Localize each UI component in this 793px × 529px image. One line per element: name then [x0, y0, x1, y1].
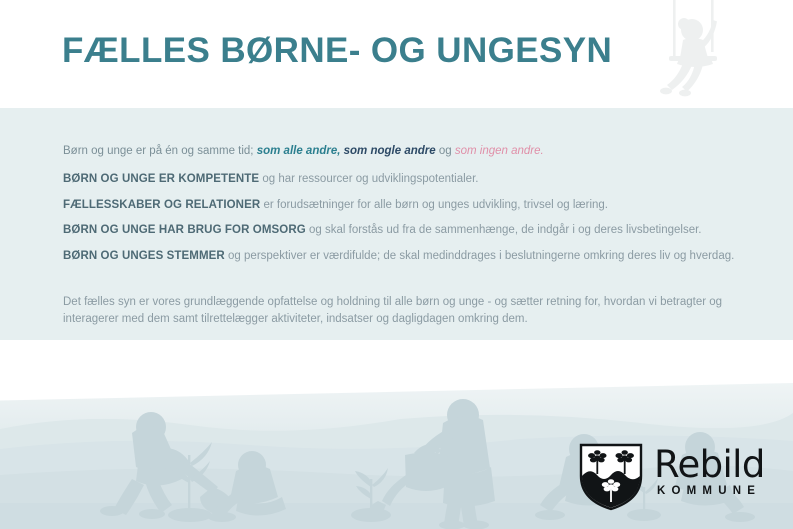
header-band: FÆLLES BØRNE- OG UNGESYN: [0, 0, 793, 108]
rebild-coat-of-arms-shield-icon: [578, 443, 644, 511]
rebild-kommune-logo: Rebild KOMMUNE: [578, 441, 778, 513]
intro-line: Børn og unge er på én og samme tid; som …: [63, 144, 544, 159]
intro-conjunction: og: [436, 145, 455, 157]
statement-item: BØRN OG UNGE ER KOMPETENTE og har ressou…: [63, 172, 783, 187]
statement-heading: BØRN OG UNGE ER KOMPETENTE: [63, 173, 259, 185]
statement-text: og perspektiver er værdifulde; de skal m…: [225, 250, 734, 262]
intro-lead: Børn og unge er på én og samme tid;: [63, 145, 257, 157]
statement-heading: BØRN OG UNGE HAR BRUG FOR OMSORG: [63, 224, 306, 236]
logo-wordmark: Rebild: [654, 444, 765, 486]
statement-text: er forudsætninger for alle børn og unges…: [260, 199, 608, 211]
statement-text: og skal forstås ud fra de sammenhænge, d…: [306, 224, 702, 236]
statement-list: BØRN OG UNGE ER KOMPETENTE og har ressou…: [63, 172, 783, 274]
child-on-swing-icon: [635, 0, 755, 108]
poster-page: FÆLLES BØRNE- OG UNGESYN: [0, 0, 793, 529]
statement-item: FÆLLESSKABER OG RELATIONER er forudsætni…: [63, 198, 783, 213]
statement-text: og har ressourcer og udviklingspotential…: [259, 173, 478, 185]
statement-heading: FÆLLESSKABER OG RELATIONER: [63, 199, 260, 211]
statement-item: BØRN OG UNGES STEMMER og perspektiver er…: [63, 249, 783, 264]
intro-emphasis-alle: som alle andre,: [257, 145, 341, 157]
intro-emphasis-ingen: som ingen andre.: [455, 145, 544, 157]
statement-item: BØRN OG UNGE HAR BRUG FOR OMSORG og skal…: [63, 223, 783, 238]
page-title: FÆLLES BØRNE- OG UNGESYN: [62, 28, 612, 74]
intro-emphasis-nogle: som nogle andre: [340, 145, 435, 157]
logo-subtitle: KOMMUNE: [657, 484, 761, 498]
closing-paragraph: Det fælles syn er vores grundlæggende op…: [63, 294, 763, 328]
statement-heading: BØRN OG UNGES STEMMER: [63, 250, 225, 262]
